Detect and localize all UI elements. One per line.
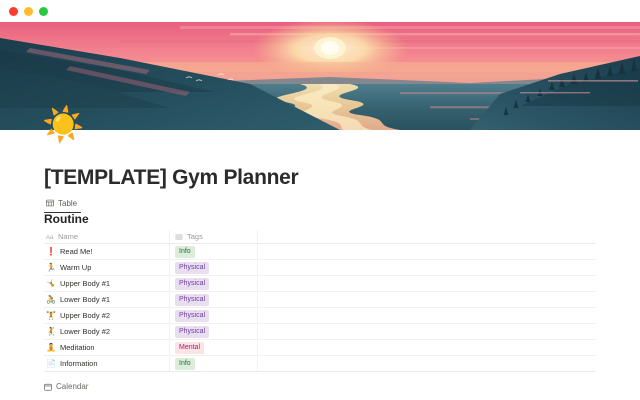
row-emoji-icon: 🏃 — [46, 264, 56, 272]
row-name-cell[interactable]: 🧘Meditation — [44, 343, 169, 352]
row-name-label: Upper Body #1 — [60, 279, 110, 288]
database-view-tabs: Table — [44, 194, 604, 213]
multi-select-icon — [175, 233, 183, 241]
row-blank-cell[interactable] — [257, 324, 596, 339]
row-name-label: Meditation — [60, 343, 95, 352]
row-name-cell[interactable]: 🤸Upper Body #1 — [44, 279, 169, 288]
row-name-label: Lower Body #2 — [60, 327, 110, 336]
column-header-name-label: Name — [58, 232, 78, 241]
row-name-label: Read Me! — [60, 247, 93, 256]
tab-table[interactable]: Table — [44, 197, 81, 213]
row-emoji-icon: ❗ — [46, 248, 56, 256]
table-row[interactable]: 📄InformationInfo — [44, 356, 596, 372]
routine-table: Aa Name T — [44, 230, 596, 372]
row-blank-cell[interactable] — [257, 308, 596, 323]
row-emoji-icon: 🤾 — [46, 328, 56, 336]
row-name-cell[interactable]: 🏃Warm Up — [44, 263, 169, 272]
maximize-button[interactable] — [39, 7, 48, 16]
row-emoji-icon: 🏋 — [46, 312, 56, 320]
tag-pill: Physical — [175, 294, 209, 306]
tab-table-label: Table — [58, 199, 77, 208]
row-blank-cell[interactable] — [257, 260, 596, 275]
row-emoji-icon: 🚴 — [46, 296, 56, 304]
table-row[interactable]: 🤸Upper Body #1Physical — [44, 276, 596, 292]
row-emoji-icon: 📄 — [46, 360, 56, 368]
row-tags-cell[interactable]: Physical — [169, 260, 257, 275]
row-name-cell[interactable]: 🤾Lower Body #2 — [44, 327, 169, 336]
tag-pill: Physical — [175, 262, 209, 274]
row-name-label: Warm Up — [60, 263, 91, 272]
row-tags-cell[interactable]: Physical — [169, 292, 257, 307]
column-header-name[interactable]: Aa Name — [44, 232, 169, 241]
page-title: [TEMPLATE] Gym Planner — [44, 166, 298, 190]
table-icon — [46, 199, 54, 207]
table-row[interactable]: 🤾Lower Body #2Physical — [44, 324, 596, 340]
app-window: ☀️ [TEMPLATE] Gym Planner Table Routine — [0, 0, 640, 400]
row-tags-cell[interactable]: Physical — [169, 276, 257, 291]
table-row[interactable]: 🏃Warm UpPhysical — [44, 260, 596, 276]
table-row[interactable]: 🚴Lower Body #1Physical — [44, 292, 596, 308]
row-blank-cell[interactable] — [257, 292, 596, 307]
table-row[interactable]: 🧘MeditationMental — [44, 340, 596, 356]
tab-calendar-label: Calendar — [56, 382, 88, 391]
row-name-cell[interactable]: 🚴Lower Body #1 — [44, 295, 169, 304]
tag-pill: Info — [175, 358, 195, 370]
minimize-button[interactable] — [24, 7, 33, 16]
row-emoji-icon: 🧘 — [46, 344, 56, 352]
table-row[interactable]: ❗Read Me!Info — [44, 244, 596, 260]
row-tags-cell[interactable]: Physical — [169, 324, 257, 339]
page-content: [TEMPLATE] Gym Planner Table Routine — [0, 130, 640, 400]
row-name-label: Lower Body #1 — [60, 295, 110, 304]
tag-pill: Physical — [175, 326, 209, 338]
table-row[interactable]: 🏋Upper Body #2Physical — [44, 308, 596, 324]
page-cover-image[interactable] — [0, 22, 640, 130]
row-tags-cell[interactable]: Info — [169, 356, 257, 371]
row-emoji-icon: 🤸 — [46, 280, 56, 288]
tag-pill: Physical — [175, 310, 209, 322]
row-blank-cell[interactable] — [257, 340, 596, 355]
row-name-label: Information — [60, 359, 98, 368]
table-body: ❗Read Me!Info🏃Warm UpPhysical🤸Upper Body… — [44, 244, 596, 372]
row-name-cell[interactable]: ❗Read Me! — [44, 247, 169, 256]
text-type-icon: Aa — [46, 233, 54, 241]
tag-pill: Info — [175, 246, 195, 258]
sun-emoji[interactable]: ☀️ — [42, 108, 84, 142]
row-tags-cell[interactable]: Info — [169, 244, 257, 259]
row-blank-cell[interactable] — [257, 276, 596, 291]
row-tags-cell[interactable]: Physical — [169, 308, 257, 323]
column-header-blank[interactable] — [257, 230, 596, 243]
row-name-label: Upper Body #2 — [60, 311, 110, 320]
calendar-icon — [44, 383, 52, 391]
column-header-tags[interactable]: Tags — [169, 230, 257, 243]
row-name-cell[interactable]: 📄Information — [44, 359, 169, 368]
column-header-tags-label: Tags — [187, 232, 203, 241]
close-button[interactable] — [9, 7, 18, 16]
svg-text:Aa: Aa — [46, 235, 54, 241]
row-tags-cell[interactable]: Mental — [169, 340, 257, 355]
table-header-row: Aa Name T — [44, 230, 596, 244]
tag-pill: Mental — [175, 342, 204, 354]
window-titlebar — [0, 0, 640, 22]
row-name-cell[interactable]: 🏋Upper Body #2 — [44, 311, 169, 320]
tab-calendar[interactable]: Calendar — [44, 382, 88, 391]
tag-pill: Physical — [175, 278, 209, 290]
row-blank-cell[interactable] — [257, 356, 596, 371]
database-title: Routine — [44, 212, 89, 226]
row-blank-cell[interactable] — [257, 244, 596, 259]
